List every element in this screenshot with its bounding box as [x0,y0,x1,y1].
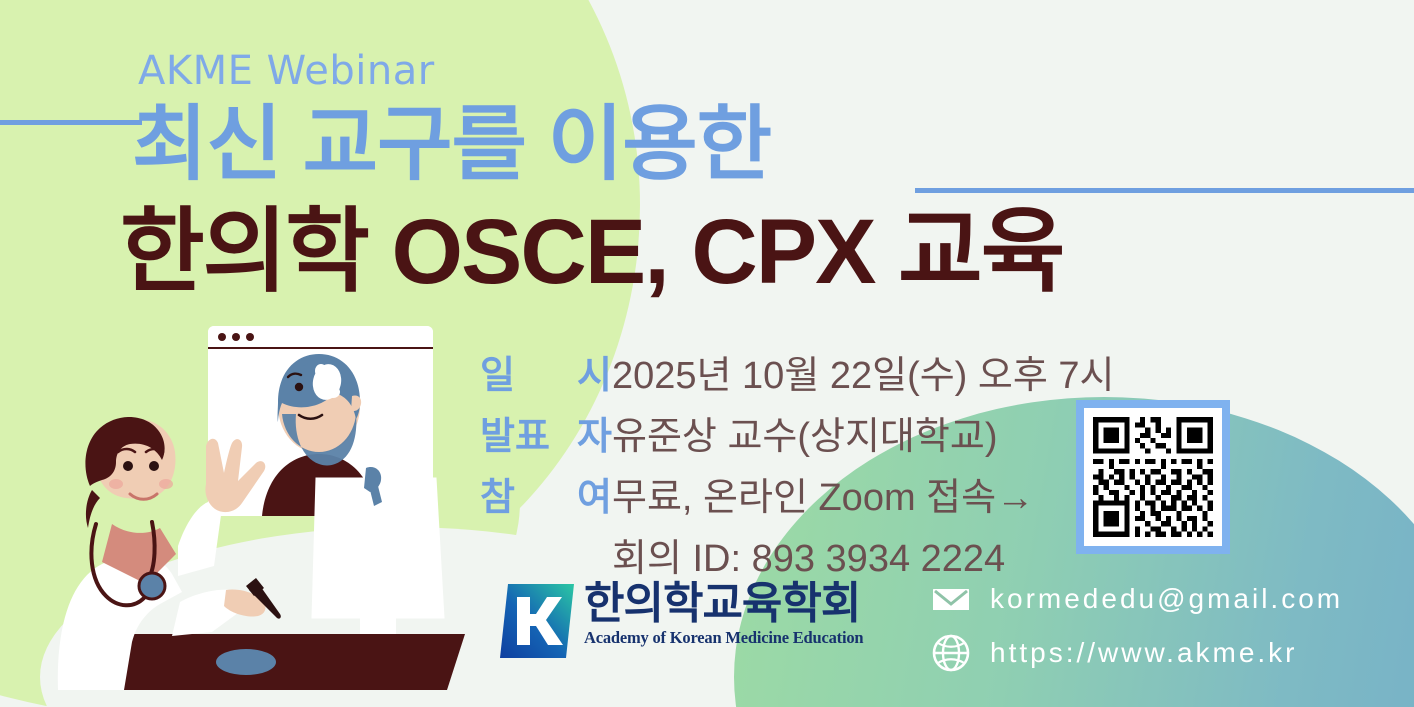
contact-row-email[interactable]: kormededu@gmail.com [930,578,1343,620]
info-meeting-id: 회의 ID: 893 3934 2224 [612,527,1114,582]
info-label-speaker: 발표 자 [480,405,612,460]
info-value-participation: 무료, 온라인 Zoom 접속→ [612,466,1034,521]
page-title-line-2: 한의학 OSCE, CPX 교육 [120,206,1063,298]
info-label-speaker-b: 자 [577,405,612,460]
info-label-participation-b: 여 [577,466,612,521]
globe-icon [930,632,972,674]
info-label-date: 일 시 [480,344,612,399]
info-row-participation: 참 여 무료, 온라인 Zoom 접속→ [480,466,1114,521]
info-row-speaker: 발표 자 유준상 교수(상지대학교) [480,405,1114,460]
qr-code-image[interactable] [1084,408,1222,546]
info-label-participation: 참 여 [480,466,612,521]
event-info-block: 일 시 2025년 10월 22일(수) 오후 7시 발표 자 유준상 교수(상… [480,344,1114,582]
info-label-date-b: 시 [577,344,612,399]
contact-row-website[interactable]: https://www.akme.kr [930,632,1343,674]
info-label-speaker-a: 발표 [480,405,550,460]
society-logo: 한의학교육학회 Academy of Korean Medicine Educa… [500,582,863,658]
page-title-line-1: 최신 교구를 이용한 [132,104,771,186]
info-row-date: 일 시 2025년 10월 22일(수) 오후 7시 [480,344,1114,399]
desk [92,634,465,690]
title-rule-right [915,188,1414,193]
logo-text-block: 한의학교육학회 Academy of Korean Medicine Educa… [584,582,863,648]
telemedicine-illustration [30,318,500,698]
qr-code-frame[interactable] [1076,400,1230,554]
contact-block: kormededu@gmail.com https://www.akme.kr [930,578,1343,686]
contact-email-text[interactable]: kormededu@gmail.com [990,583,1343,615]
info-label-participation-a: 참 [480,466,515,521]
logo-english-name: Academy of Korean Medicine Education [584,628,863,648]
webinar-poster: AKME Webinar 최신 교구를 이용한 한의학 OSCE, CPX 교육 [0,0,1414,707]
akme-k-mark-icon [500,584,574,658]
eyebrow-label: AKME Webinar [138,48,435,94]
info-label-date-a: 일 [480,344,515,399]
title-rule-left [0,120,142,125]
info-value-speaker: 유준상 교수(상지대학교) [612,405,997,460]
logo-korean-name: 한의학교육학회 [584,579,860,628]
computer-monitor [312,467,444,650]
envelope-icon [930,578,972,620]
info-value-date: 2025년 10월 22일(수) 오후 7시 [612,344,1114,399]
contact-website-text[interactable]: https://www.akme.kr [990,637,1298,669]
